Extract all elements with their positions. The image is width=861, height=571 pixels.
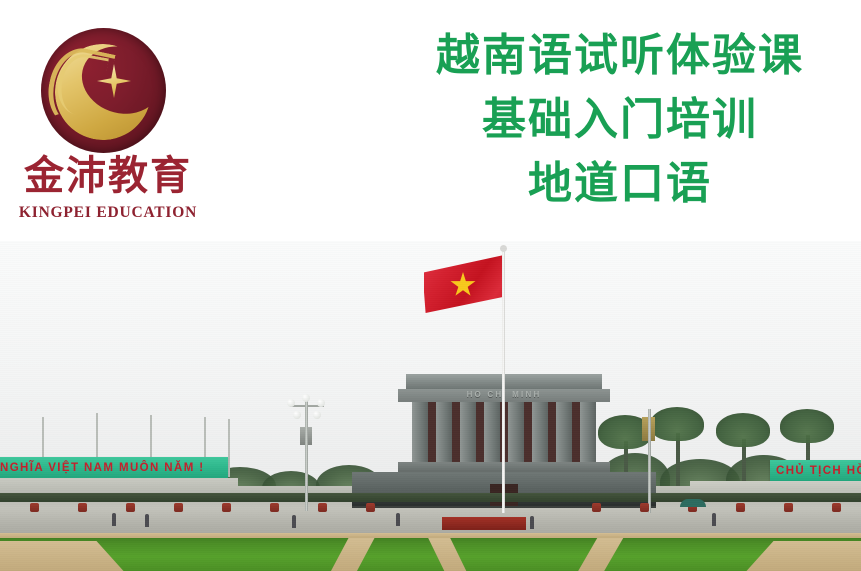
street-lamp-post (305, 401, 308, 511)
slogan-banner-right: CHỦ TỊCH HỒ (770, 460, 861, 481)
brand-name-cn: 金沛教育 (8, 156, 208, 196)
lamp-globe (287, 399, 295, 407)
poster-header: 金沛教育 KINGPEI EDUCATION 越南语试听体验课 基础入门培训 地… (0, 0, 861, 241)
column (484, 402, 500, 462)
planter-pot (318, 503, 327, 512)
planter-pot (640, 503, 649, 512)
flagpole-finial (500, 245, 507, 252)
umbrella (680, 499, 706, 507)
slogan-banner-left-text: NGHĨA VIỆT NAM MUÔN NĂM ! (0, 462, 205, 474)
hedge-row (0, 493, 861, 502)
planter-pot (126, 503, 135, 512)
column (580, 402, 596, 462)
slogan-banner-right-text: CHỦ TỊCH HỒ (770, 465, 861, 477)
hero-photo: HO CHI MINH (0, 241, 861, 571)
planter-pot (736, 503, 745, 512)
headline-line-3: 地道口语 (400, 162, 840, 206)
pedestrian (712, 513, 716, 526)
ceremonial-barrier (442, 517, 526, 530)
planter-pot (784, 503, 793, 512)
palm-crown (780, 409, 834, 443)
planter-pot (592, 503, 601, 512)
planter-pot (832, 503, 841, 512)
column (508, 402, 524, 462)
pedestrian (530, 516, 534, 529)
column (532, 402, 548, 462)
planter-pot (270, 503, 279, 512)
pole (228, 419, 230, 477)
crescent-star-emblem-icon (41, 28, 166, 153)
pedestrian (396, 513, 400, 526)
headline-line-1: 越南语试听体验课 (400, 34, 840, 78)
lamp-globe (302, 394, 310, 402)
planter-pot (174, 503, 183, 512)
flagpole (502, 249, 505, 513)
brand-name-en: KINGPEI EDUCATION (8, 204, 208, 222)
palm-crown (716, 413, 770, 447)
promo-poster: 金沛教育 KINGPEI EDUCATION 越南语试听体验课 基础入门培训 地… (0, 0, 861, 571)
lamp-globe (317, 399, 325, 407)
column (556, 402, 572, 462)
planter-pot (222, 503, 231, 512)
column (436, 402, 452, 462)
slogan-banner-left: NGHĨA VIỆT NAM MUÔN NĂM ! (0, 457, 228, 478)
headline-group: 越南语试听体验课 基础入门培训 地道口语 (400, 34, 840, 206)
planter-pot (30, 503, 39, 512)
pedestrian (112, 513, 116, 526)
planter-pot (78, 503, 87, 512)
planter-pot (366, 503, 375, 512)
lamp-globe (293, 411, 301, 419)
headline-line-2: 基础入门培训 (400, 98, 840, 142)
lamp-globe (313, 411, 321, 419)
brand-logo: 金沛教育 KINGPEI EDUCATION (8, 28, 208, 233)
street-lamp-post (648, 409, 651, 513)
palm-crown (650, 407, 704, 441)
column (412, 402, 428, 462)
lawn-edge-path (0, 533, 861, 538)
pedestrian (292, 515, 296, 528)
column (460, 402, 476, 462)
pedestrian (145, 514, 149, 527)
